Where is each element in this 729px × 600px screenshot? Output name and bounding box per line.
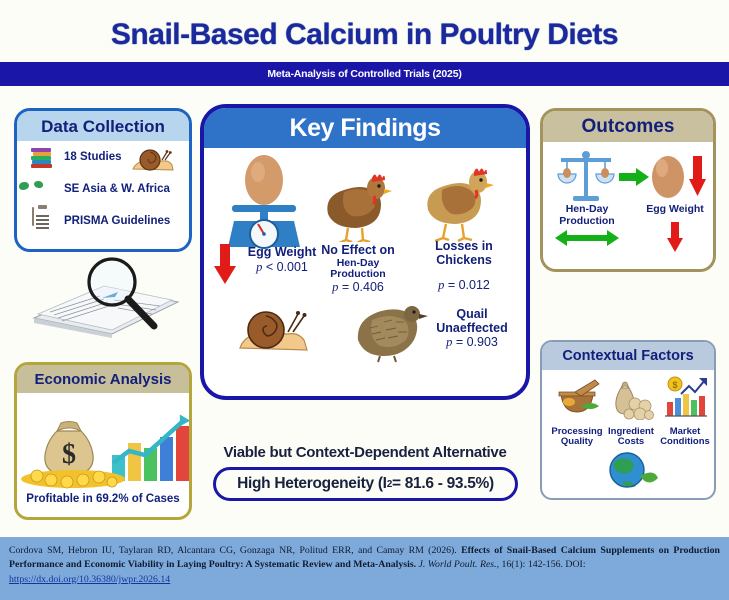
quail-icon <box>350 298 430 364</box>
badge-prefix: High Heterogeneity (I <box>237 475 387 493</box>
books-icon <box>29 144 55 170</box>
list-item: PRISMA Guidelines <box>17 205 189 237</box>
heterogeneity-badge: High Heterogeneity (I2 = 81.6 - 93.5%) <box>213 467 518 501</box>
finding-quail: Quail Unaeffected p = 0.903 <box>424 308 520 350</box>
subtitle-bar: Meta-Analysis of Controlled Trials (2025… <box>0 62 729 86</box>
context-item-label: Ingredient Costs <box>602 427 660 448</box>
panel-data-collection: Data Collection 18 Studies SE Asia & W. … <box>14 108 192 252</box>
economic-analysis-art: $ <box>17 393 189 491</box>
citation-text: Cordova SM, Hebron IU, Taylaran RD, Alca… <box>9 544 720 587</box>
panel-outcomes: Outcomes <box>540 108 716 272</box>
badge-suffix: = 81.6 - 93.5%) <box>392 475 494 493</box>
context-item-label: Processing Quality <box>548 427 606 448</box>
hen-icon <box>416 160 500 242</box>
citation-journal: J. World Poult. Res. <box>419 559 497 570</box>
sack-of-grain-icon <box>607 376 655 420</box>
eco-globe-icon <box>602 448 660 492</box>
list-item-label: PRISMA Guidelines <box>64 215 170 227</box>
balance-scale-icon <box>555 148 617 204</box>
economic-analysis-footer-label: Profitable in 69.2% of Cases <box>17 491 189 505</box>
contextual-factors-heading: Contextual Factors <box>542 342 714 370</box>
svg-text:$: $ <box>62 439 76 470</box>
egg-on-scale-icon <box>220 152 308 250</box>
bar-chart-coin-icon: $ <box>661 376 709 420</box>
list-item-label: 18 Studies <box>64 151 122 163</box>
header: Snail-Based Calcium in Poultry Diets Met… <box>0 0 729 92</box>
list-item: SE Asia & W. Africa <box>17 173 189 205</box>
key-findings-heading: Key Findings <box>204 108 526 148</box>
outcome-label-egg-weight: Egg Weight <box>639 204 711 216</box>
finding-losses-p: p = 0.012 <box>416 278 512 293</box>
citation-bar: Cordova SM, Hebron IU, Taylaran RD, Alca… <box>0 537 729 600</box>
list-item-label: SE Asia & W. Africa <box>64 183 170 195</box>
clipboard-icon <box>29 208 55 234</box>
economic-analysis-heading: Economic Analysis <box>17 365 189 393</box>
panel-economic-analysis: Economic Analysis $ <box>14 362 192 520</box>
snail-icon <box>131 147 177 173</box>
data-collection-heading: Data Collection <box>17 111 189 141</box>
panel-key-findings: Key Findings Egg Weight p < 0.001 <box>200 104 530 400</box>
snail-icon <box>236 306 316 356</box>
finding-p-value: p = 0.903 <box>424 336 520 350</box>
panel-contextual-factors: Contextual Factors Processing Quality <box>540 340 716 500</box>
down-arrow-red-icon <box>689 156 706 196</box>
documents-magnifier-icon <box>26 252 186 340</box>
citation-volume: , 16(1): 142-156. DOI: <box>497 559 586 570</box>
globe-icon <box>29 176 55 202</box>
mortar-pestle-icon <box>553 376 601 420</box>
outcomes-heading: Outcomes <box>543 111 713 142</box>
finding-subtitle: Hen-Day Production <box>308 258 408 281</box>
egg-icon <box>649 150 687 200</box>
finding-title: Quail Unaeffected <box>424 308 520 335</box>
context-item-label: Market Conditions <box>656 427 714 448</box>
page-title: Snail-Based Calcium in Poultry Diets <box>0 0 729 50</box>
conclusion-line: Viable but Context-Dependent Alternative <box>200 444 530 461</box>
subtitle-text: Meta-Analysis of Controlled Trials (2025… <box>267 68 461 80</box>
finding-losses-in-chickens: Losses in Chickens <box>416 240 512 267</box>
hen-icon <box>314 162 398 242</box>
citation-doi-link[interactable]: https://dx.doi.org/10.36380/jwpr.2026.14 <box>9 573 720 587</box>
outcome-label-hen-day: Hen-Day Production <box>551 204 623 227</box>
down-arrow-red-icon <box>667 222 683 252</box>
down-arrow-red-icon <box>214 244 236 284</box>
finding-p-value: p = 0.012 <box>416 279 512 293</box>
finding-p-value: p = 0.406 <box>308 281 408 295</box>
double-arrow-green-icon <box>555 230 619 246</box>
right-arrow-green-icon <box>619 168 649 186</box>
context-item-market-conditions: $ Market Conditions <box>656 376 714 448</box>
infographic-canvas: Data Collection 18 Studies SE Asia & W. … <box>0 92 729 535</box>
finding-title: Losses in Chickens <box>416 240 512 267</box>
citation-authors: Cordova SM, Hebron IU, Taylaran RD, Alca… <box>9 545 461 556</box>
context-item-processing-quality: Processing Quality <box>548 376 606 448</box>
context-item-ingredient-costs: Ingredient Costs <box>602 376 660 448</box>
svg-text:$: $ <box>672 380 677 390</box>
finding-title: No Effect on <box>308 244 408 258</box>
finding-hen-day-production: No Effect on Hen-Day Production p = 0.40… <box>308 244 408 295</box>
